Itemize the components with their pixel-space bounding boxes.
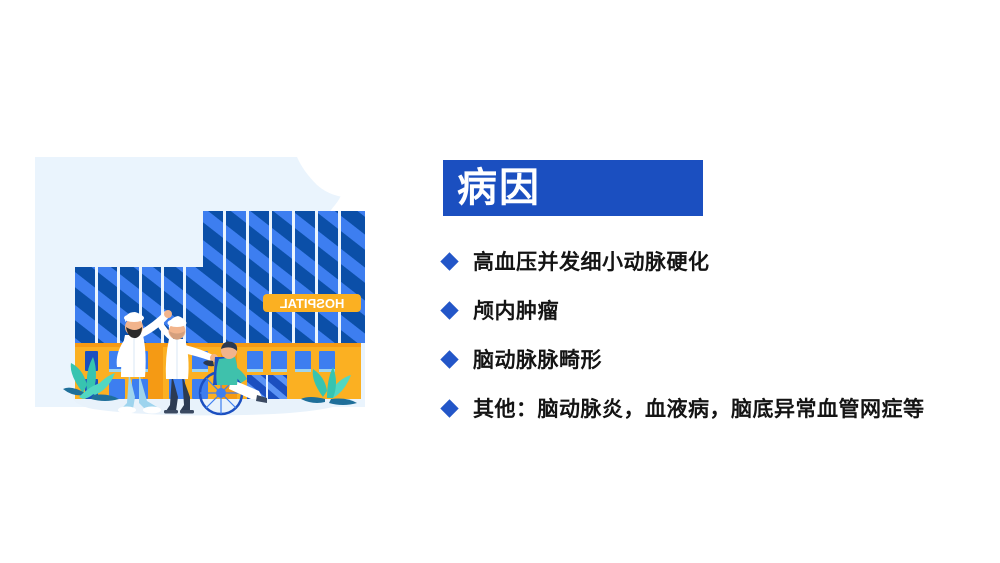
hospital-sign-text: HOSPITAL (280, 296, 345, 311)
diamond-bullet-icon (440, 301, 458, 319)
list-item: 高血压并发细小动脉硬化 (443, 248, 963, 274)
list-item-label: 其他：脑动脉炎，血液病，脑底异常血管网症等 (473, 393, 925, 423)
list-item: 其他：脑动脉炎，血液病，脑底异常血管网症等 (443, 395, 963, 421)
list-item: 脑动脉脉畸形 (443, 346, 963, 372)
title-banner: 病因 (443, 160, 703, 216)
diamond-bullet-icon (440, 350, 458, 368)
building-right-glass (203, 211, 365, 343)
diamond-bullet-icon (440, 252, 458, 270)
slide-canvas: HOSPITAL (0, 0, 1000, 563)
page-title: 病因 (457, 166, 541, 210)
list-item: 颅内肿瘤 (443, 297, 963, 323)
list-item-label: 高血压并发细小动脉硬化 (473, 246, 710, 276)
diamond-bullet-icon (440, 399, 458, 417)
bullet-list: 高血压并发细小动脉硬化 颅内肿瘤 脑动脉脉畸形 其他：脑动脉炎，血液病，脑底异常… (443, 248, 963, 421)
hospital-scene-illustration: HOSPITAL (35, 157, 365, 437)
list-item-label: 脑动脉脉畸形 (473, 344, 602, 374)
content-column: 病因 高血压并发细小动脉硬化 颅内肿瘤 脑动脉脉畸形 其他：脑动脉炎，血液病，脑… (443, 160, 963, 444)
list-item-label: 颅内肿瘤 (473, 295, 559, 325)
hospital-sign: HOSPITAL (263, 294, 361, 312)
